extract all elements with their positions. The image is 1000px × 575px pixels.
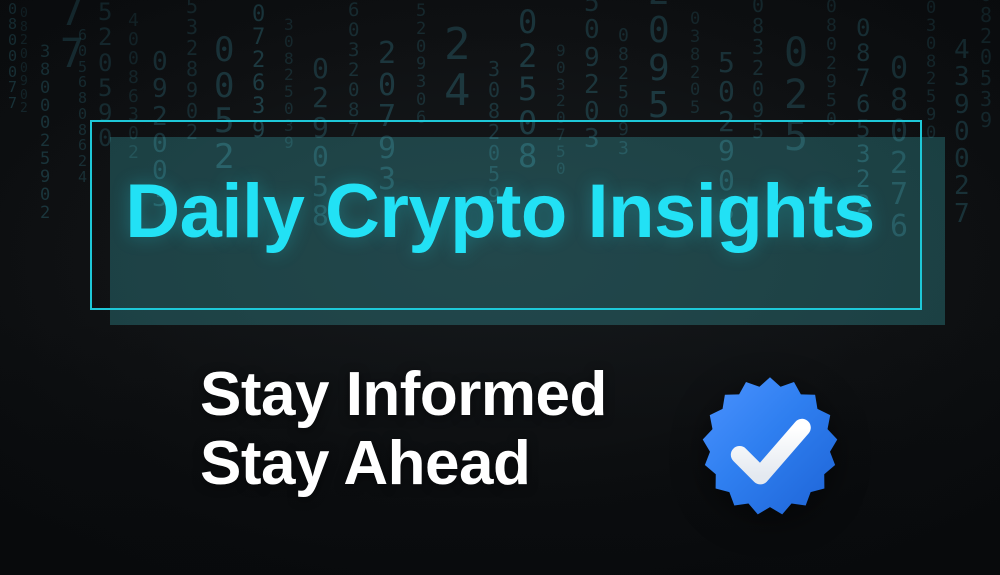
page-title: Daily Crypto Insights (0, 168, 1000, 255)
badge-rosette-shape (703, 377, 838, 514)
matrix-rain-column: 3 0 8 0 2 9 5 0 (826, 0, 837, 130)
matrix-rain-column: 0 3 0 8 2 5 9 0 (926, 0, 936, 143)
matrix-rain-column: 0 3 8 2 0 5 (690, 11, 700, 118)
tagline-block: Stay Informed Stay Ahead (200, 360, 670, 499)
promo-banner-canvas: 8 3 0 8 0 0 0 7 70 8 2 0 0 9 0 23 8 0 0 … (0, 0, 1000, 575)
matrix-rain-column: 0 8 2 0 5 3 9 (980, 0, 992, 131)
matrix-rain-column: 8 3 0 8 0 0 0 7 7 (8, 0, 17, 112)
verified-badge-icon (690, 370, 850, 538)
matrix-rain-column: 2 4 (444, 22, 471, 114)
matrix-rain-column: 2 0 9 5 (648, 0, 670, 125)
matrix-rain-column: 0 5 2 0 9 3 0 6 (416, 0, 426, 128)
matrix-rain-column: 0 8 2 0 0 9 0 2 (20, 7, 28, 116)
tagline-line-1: Stay Informed (200, 360, 670, 429)
tagline-line-2: Stay Ahead (200, 429, 670, 498)
matrix-rain-column: 6 0 5 6 8 0 8 6 2 4 (78, 28, 87, 186)
